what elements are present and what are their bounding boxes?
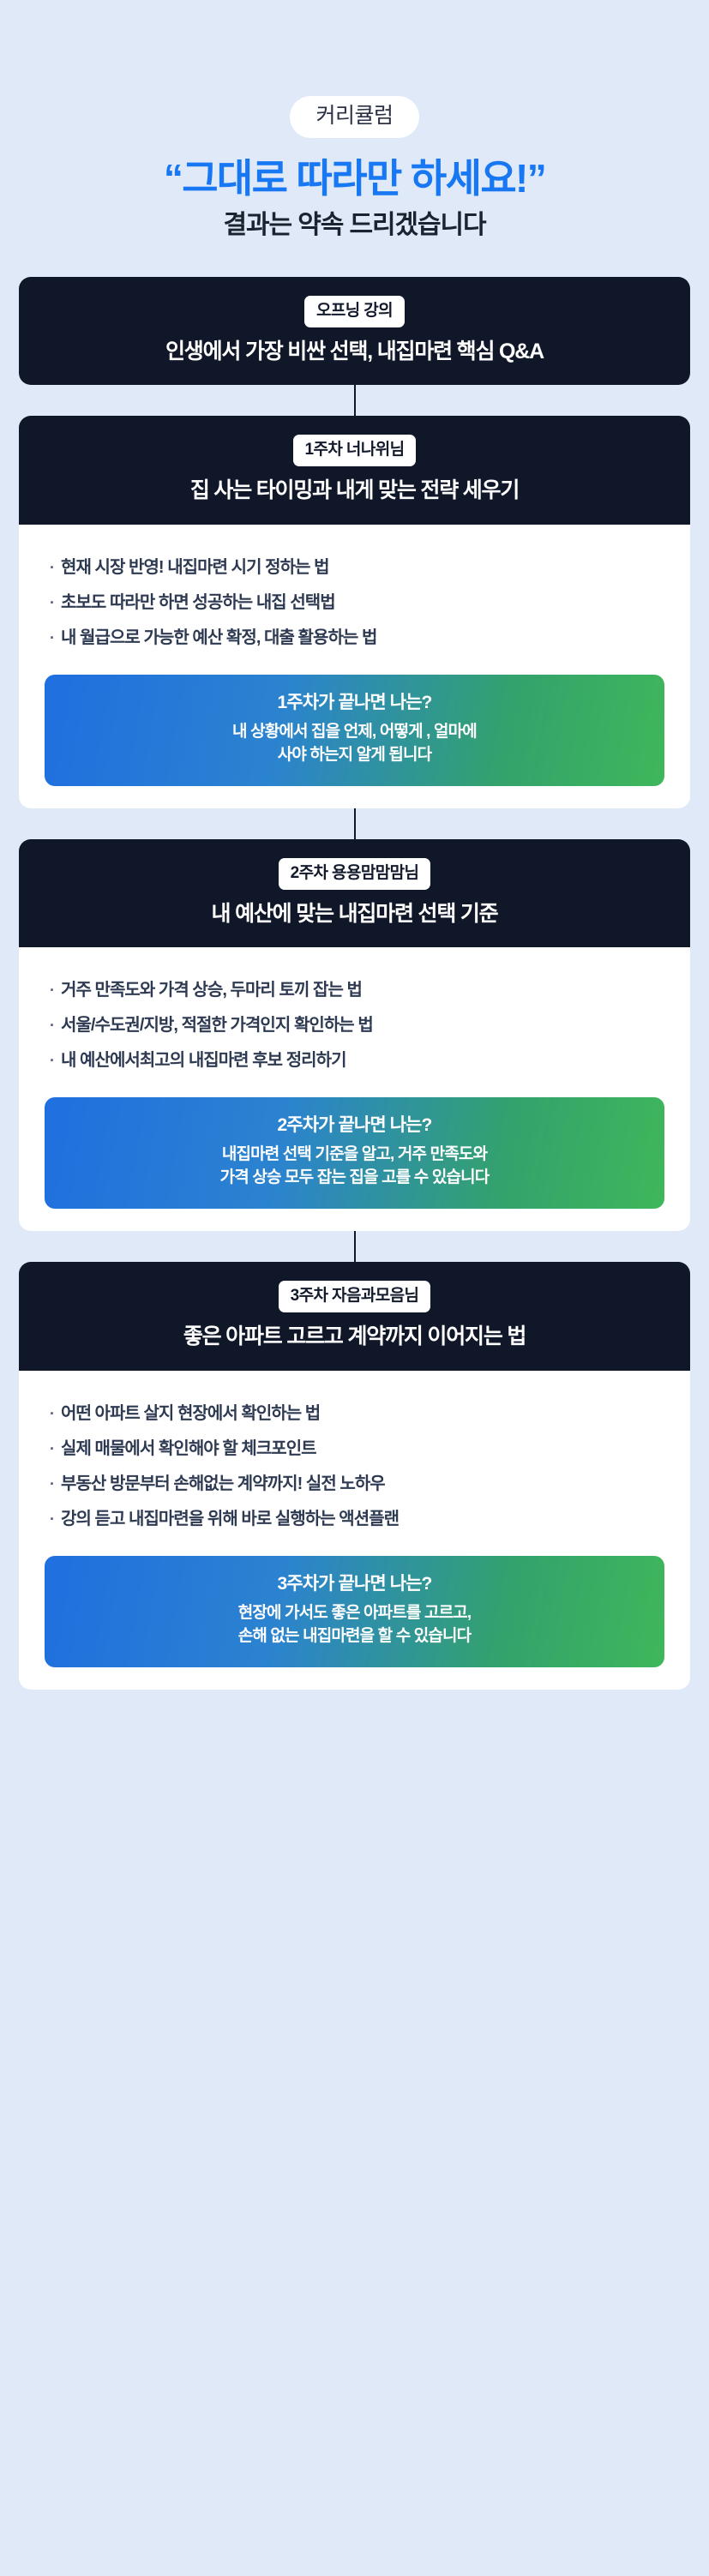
opening-title: 인생에서 가장 비싼 선택, 내집마련 핵심 Q&A bbox=[34, 339, 675, 365]
list-item: · 서울/수도권/지방, 적절한 가격인지 확인하는 법 bbox=[50, 1008, 659, 1043]
week-2-bullet-list: · 거주 만족도와 가격 상승, 두마리 토끼 잡는 법 · 서울/수도권/지방… bbox=[19, 973, 690, 1078]
list-item-label: 강의 듣고 내집마련을 위해 바로 실행하는 액션플랜 bbox=[61, 1508, 399, 1531]
list-item-label: 내 월급으로 가능한 예산 확정, 대출 활용하는 법 bbox=[61, 627, 376, 650]
bullet-icon: · bbox=[50, 1508, 61, 1530]
week-3-body: · 어떤 아파트 살지 현장에서 확인하는 법 · 실제 매물에서 확인해야 할… bbox=[19, 1371, 690, 1690]
result-line: 가격 상승 모두 잡는 집을 고를 수 있습니다 bbox=[58, 1167, 651, 1190]
week-3-title: 좋은 아파트 고르고 계약까지 이어지는 법 bbox=[34, 1324, 675, 1350]
bullet-icon: · bbox=[50, 979, 61, 1001]
result-line: 현장에 가서도 좋은 아파트를 고르고, bbox=[58, 1602, 651, 1625]
list-item-label: 실제 매물에서 확인해야 할 체크포인트 bbox=[61, 1438, 316, 1461]
page-header: 커리큘럼 “그대로 따라만 하세요!” 결과는 약속 드리겠습니다 bbox=[0, 0, 709, 241]
week-3-header[interactable]: 3주차 자음과모음님 좋은 아파트 고르고 계약까지 이어지는 법 bbox=[19, 1262, 690, 1371]
flow-connector-3 bbox=[354, 1231, 356, 1262]
week-2-body: · 거주 만족도와 가격 상승, 두마리 토끼 잡는 법 · 서울/수도권/지방… bbox=[19, 947, 690, 1231]
list-item: · 내 예산에서최고의 내집마련 후보 정리하기 bbox=[50, 1043, 659, 1078]
week-1-title: 집 사는 타이밍과 내게 맞는 전략 세우기 bbox=[34, 478, 675, 504]
week-1-result-title: 1주차가 끝나면 나는? bbox=[58, 692, 651, 713]
list-item: · 내 월급으로 가능한 예산 확정, 대출 활용하는 법 bbox=[50, 621, 659, 656]
list-item: · 현재 시장 반영! 내집마련 시기 정하는 법 bbox=[50, 550, 659, 585]
week-3-bullet-list: · 어떤 아파트 살지 현장에서 확인하는 법 · 실제 매물에서 확인해야 할… bbox=[19, 1396, 690, 1537]
result-line: 손해 없는 내집마련을 할 수 있습니다 bbox=[58, 1625, 651, 1648]
list-item-label: 초보도 따라만 하면 성공하는 내집 선택법 bbox=[61, 591, 335, 615]
bullet-icon: · bbox=[50, 591, 61, 614]
list-item-label: 내 예산에서최고의 내집마련 후보 정리하기 bbox=[61, 1049, 346, 1072]
week-3-chip: 3주차 자음과모음님 bbox=[279, 1281, 431, 1312]
page-subtitle: 결과는 약속 드리겠습니다 bbox=[0, 210, 709, 241]
opening-chip: 오프닝 강의 bbox=[304, 296, 405, 327]
eyebrow-badge: 커리큘럼 bbox=[290, 96, 418, 138]
week-1-bullet-list: · 현재 시장 반영! 내집마련 시기 정하는 법 · 초보도 따라만 하면 성… bbox=[19, 550, 690, 656]
week-3-result-box: 3주차가 끝나면 나는? 현장에 가서도 좋은 아파트를 고르고, 손해 없는 … bbox=[45, 1556, 664, 1667]
week-1-result-box: 1주차가 끝나면 나는? 내 상황에서 집을 언제, 어떻게 , 얼마에 사야 … bbox=[45, 675, 664, 786]
list-item-label: 어떤 아파트 살지 현장에서 확인하는 법 bbox=[61, 1402, 320, 1426]
week-1-result-body: 내 상황에서 집을 언제, 어떻게 , 얼마에 사야 하는지 알게 됩니다 bbox=[58, 721, 651, 767]
bullet-icon: · bbox=[50, 556, 61, 579]
list-item: · 어떤 아파트 살지 현장에서 확인하는 법 bbox=[50, 1396, 659, 1432]
bullet-icon: · bbox=[50, 627, 61, 649]
list-item-label: 현재 시장 반영! 내집마련 시기 정하는 법 bbox=[61, 556, 329, 579]
list-item-label: 부동산 방문부터 손해없는 계약까지! 실전 노하우 bbox=[61, 1473, 385, 1496]
week-3-result-title: 3주차가 끝나면 나는? bbox=[58, 1573, 651, 1594]
week-2-result-body: 내집마련 선택 기준을 알고, 거주 만족도와 가격 상승 모두 잡는 집을 고… bbox=[58, 1144, 651, 1190]
week-2-title: 내 예산에 맞는 내집마련 선택 기준 bbox=[34, 902, 675, 928]
result-line: 사야 하는지 알게 됩니다 bbox=[58, 744, 651, 767]
list-item-label: 서울/수도권/지방, 적절한 가격인지 확인하는 법 bbox=[61, 1014, 373, 1037]
flow-connector-1 bbox=[354, 385, 356, 416]
list-item: · 초보도 따라만 하면 성공하는 내집 선택법 bbox=[50, 585, 659, 621]
week-2-result-box: 2주차가 끝나면 나는? 내집마련 선택 기준을 알고, 거주 만족도와 가격 … bbox=[45, 1097, 664, 1209]
week-2-header[interactable]: 2주차 용용맘맘맘님 내 예산에 맞는 내집마련 선택 기준 bbox=[19, 839, 690, 948]
week-2-chip: 2주차 용용맘맘맘님 bbox=[279, 858, 431, 890]
bullet-icon: · bbox=[50, 1438, 61, 1460]
week-1-body: · 현재 시장 반영! 내집마련 시기 정하는 법 · 초보도 따라만 하면 성… bbox=[19, 525, 690, 808]
bullet-icon: · bbox=[50, 1402, 61, 1425]
week-2-result-title: 2주차가 끝나면 나는? bbox=[58, 1114, 651, 1136]
curriculum-flow: 오프닝 강의 인생에서 가장 비싼 선택, 내집마련 핵심 Q&A 1주차 너나… bbox=[0, 277, 709, 1690]
opening-lecture-card[interactable]: 오프닝 강의 인생에서 가장 비싼 선택, 내집마련 핵심 Q&A bbox=[19, 277, 690, 386]
list-item-label: 거주 만족도와 가격 상승, 두마리 토끼 잡는 법 bbox=[61, 979, 362, 1002]
result-line: 내집마련 선택 기준을 알고, 거주 만족도와 bbox=[58, 1144, 651, 1167]
week-1-header[interactable]: 1주차 너나위님 집 사는 타이밍과 내게 맞는 전략 세우기 bbox=[19, 416, 690, 525]
week-1-chip: 1주차 너나위님 bbox=[293, 435, 417, 466]
result-line: 내 상황에서 집을 언제, 어떻게 , 얼마에 bbox=[58, 721, 651, 744]
bullet-icon: · bbox=[50, 1473, 61, 1495]
list-item: · 거주 만족도와 가격 상승, 두마리 토끼 잡는 법 bbox=[50, 973, 659, 1008]
flow-connector-2 bbox=[354, 808, 356, 839]
list-item: · 실제 매물에서 확인해야 할 체크포인트 bbox=[50, 1432, 659, 1467]
bullet-icon: · bbox=[50, 1049, 61, 1072]
bullet-icon: · bbox=[50, 1014, 61, 1036]
list-item: · 부동산 방문부터 손해없는 계약까지! 실전 노하우 bbox=[50, 1467, 659, 1502]
page-title: “그대로 따라만 하세요!” bbox=[0, 157, 709, 201]
curriculum-page: 커리큘럼 “그대로 따라만 하세요!” 결과는 약속 드리겠습니다 오프닝 강의… bbox=[0, 0, 709, 1690]
list-item: · 강의 듣고 내집마련을 위해 바로 실행하는 액션플랜 bbox=[50, 1502, 659, 1537]
week-3-result-body: 현장에 가서도 좋은 아파트를 고르고, 손해 없는 내집마련을 할 수 있습니… bbox=[58, 1602, 651, 1648]
